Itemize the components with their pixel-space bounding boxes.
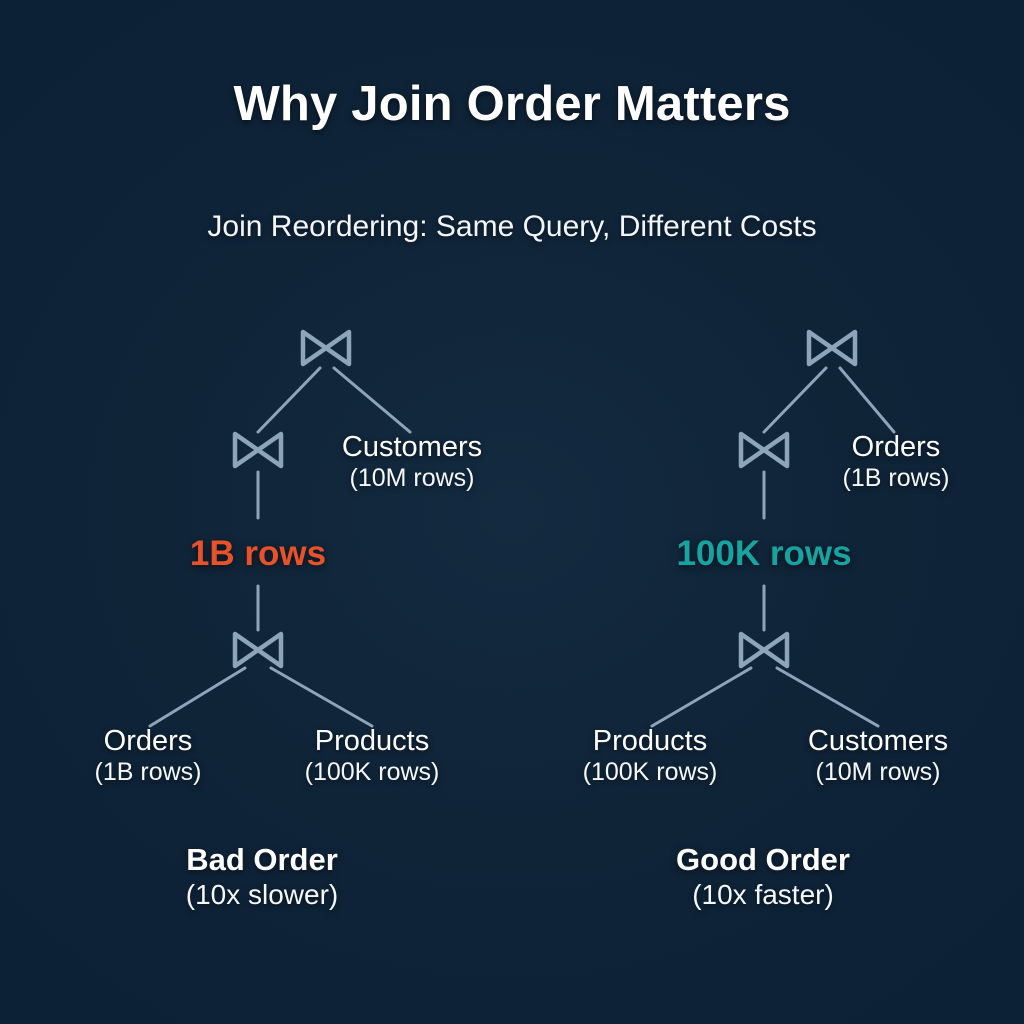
join-bowtie-icon-bad-mid: [230, 429, 286, 471]
table-name: Orders: [95, 726, 202, 757]
table-name: Customers: [808, 726, 948, 757]
leaf-bad-left: Orders (1B rows): [95, 726, 202, 787]
edge-good-root-to-orders: [840, 368, 894, 432]
diagram-canvas: Why Join Order Matters Join Reordering: …: [0, 0, 1024, 1024]
table-name: Orders: [843, 432, 950, 463]
verdict-title: Good Order: [676, 843, 850, 878]
join-bowtie-icon-bad-bottom: [230, 629, 286, 671]
leaf-bad-root-right-child: Customers (10M rows): [342, 432, 482, 493]
table-name: Customers: [342, 432, 482, 463]
page-subtitle: Join Reordering: Same Query, Different C…: [0, 210, 1024, 244]
edge-good-root-to-mid: [764, 368, 826, 432]
table-rowcount: (10M rows): [808, 757, 948, 787]
cardinality-badge-bad: 1B rows: [190, 534, 326, 574]
verdict-title: Bad Order: [186, 843, 338, 878]
join-bowtie-icon-good-root: [804, 327, 860, 369]
connector-edges: [0, 0, 1024, 1024]
join-bowtie-icon-good-bottom: [736, 629, 792, 671]
table-rowcount: (100K rows): [583, 757, 718, 787]
edge-good-bottom-to-products: [652, 668, 751, 726]
leaf-bad-right: Products (100K rows): [305, 726, 440, 787]
cardinality-badge-good: 100K rows: [676, 534, 851, 574]
join-bowtie-icon-bad-root: [298, 327, 354, 369]
leaf-good-left: Products (100K rows): [583, 726, 718, 787]
edge-bad-bottom-to-orders: [150, 668, 245, 726]
table-rowcount: (10M rows): [342, 463, 482, 493]
edge-bad-root-to-mid: [258, 368, 320, 432]
edge-bad-bottom-to-products: [271, 668, 372, 726]
verdict-subtitle: (10x faster): [676, 878, 850, 912]
edge-good-bottom-to-customers: [777, 668, 878, 726]
verdict-good-order: Good Order (10x faster): [676, 843, 850, 911]
page-title: Why Join Order Matters: [0, 76, 1024, 132]
edge-bad-root-to-customers: [334, 368, 410, 432]
table-name: Products: [305, 726, 440, 757]
table-rowcount: (1B rows): [843, 463, 950, 493]
table-rowcount: (1B rows): [95, 757, 202, 787]
table-name: Products: [583, 726, 718, 757]
leaf-good-right: Customers (10M rows): [808, 726, 948, 787]
join-bowtie-icon-good-mid: [736, 429, 792, 471]
verdict-bad-order: Bad Order (10x slower): [186, 843, 338, 911]
verdict-subtitle: (10x slower): [186, 878, 338, 912]
table-rowcount: (100K rows): [305, 757, 440, 787]
leaf-good-root-right-child: Orders (1B rows): [843, 432, 950, 493]
